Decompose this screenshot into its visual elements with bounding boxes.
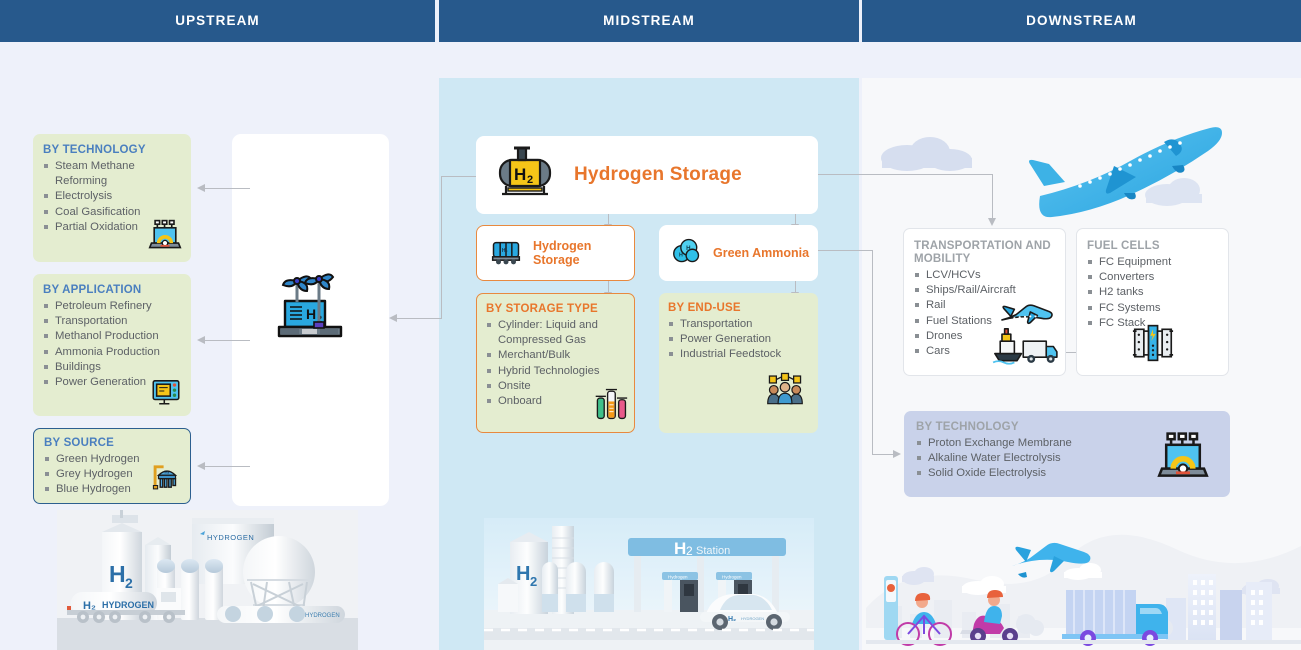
list-item: Ammonia Production [43, 345, 181, 360]
column-header-downstream: DOWNSTREAM [862, 0, 1301, 42]
connector-line [872, 250, 873, 454]
list-item: Transportation [668, 317, 809, 332]
connector-line [205, 188, 250, 189]
svg-text:H: H [514, 165, 526, 184]
infographic-root: HYDROGEN ECONOMY HYDROGEN [0, 0, 1301, 650]
svg-text:H: H [686, 245, 691, 252]
card-list: FC Equipment Converters H2 tanks FC Syst… [1087, 255, 1218, 331]
svg-text:Station: Station [696, 545, 730, 557]
connector-line [441, 176, 442, 319]
list-item: Transportation [43, 314, 181, 329]
card-fuel-cells: FUEL CELLS FC Equipment Converters H2 ta… [1076, 228, 1229, 376]
card-heading: BY END-USE [668, 302, 809, 315]
list-item: Merchant/Bulk [486, 348, 625, 363]
midstream-sub-hydrogen-storage: H₂ Hydrogen Storage [476, 225, 635, 281]
list-item: Electrolysis [43, 189, 181, 204]
svg-text:H₂: H₂ [728, 616, 736, 623]
list-item: Buildings [43, 360, 181, 375]
arrow-left-icon [389, 314, 397, 322]
svg-text:Hydrogen: Hydrogen [722, 575, 742, 580]
svg-text:HYDROGEN: HYDROGEN [102, 600, 154, 610]
card-by-end-use: BY END-USE Transportation Power Generati… [659, 293, 818, 433]
list-item: Hybrid Technologies [486, 364, 625, 379]
svg-text:HYDROGEN: HYDROGEN [305, 613, 340, 619]
connector-line [872, 454, 894, 455]
connector-line [397, 318, 442, 319]
upstream-center-plate: H 2 [232, 134, 389, 506]
list-item: Power Generation [668, 332, 809, 347]
list-item: Methanol Production [43, 329, 181, 344]
svg-text:Hydrogen: Hydrogen [668, 575, 688, 580]
card-by-application-upstream: BY APPLICATION Petroleum Refinery Transp… [33, 274, 191, 416]
city-mobility-illustration [866, 528, 1301, 650]
card-by-technology-downstream: BY TECHNOLOGY Proton Exchange Membrane A… [904, 411, 1230, 497]
arrow-left-icon [197, 184, 205, 192]
plane-ship-truck-icon [989, 304, 1061, 371]
svg-text:H₂: H₂ [502, 247, 508, 253]
card-by-storage-type: BY STORAGE TYPE Cylinder: Liquid and Com… [476, 293, 635, 433]
card-heading: FUEL CELLS [1087, 240, 1218, 253]
svg-text:H: H [306, 306, 316, 322]
card-transportation-and-mobility: TRANSPORTATION AND MOBILITY LCV/HCVs Shi… [903, 228, 1066, 376]
svg-text:H: H [679, 252, 683, 258]
list-item: Steam Methane Reforming [43, 159, 181, 189]
midstream-main-label: Hydrogen Storage [574, 164, 742, 186]
h2-refuelling-station-illustration: H 2 H 2 Station Hydro [484, 518, 814, 650]
list-item: Industrial Feedstock [668, 347, 809, 362]
svg-text:2: 2 [527, 174, 533, 186]
column-header-upstream: UPSTREAM [0, 0, 435, 42]
midstream-main-card: H 2 Hydrogen Storage [476, 136, 818, 214]
people-group-icon [766, 372, 804, 411]
svg-text:H: H [516, 563, 530, 585]
midstream-sub-label: Green Ammonia [713, 246, 809, 260]
svg-text:2: 2 [530, 574, 537, 589]
connector-line [205, 466, 250, 467]
svg-text:H: H [109, 561, 126, 587]
arrow-right-icon [893, 450, 901, 458]
midstream-sub-label: Hydrogen Storage [533, 239, 634, 267]
svg-text:2: 2 [125, 575, 133, 591]
laptop-gear-icon [147, 217, 183, 258]
airplane-takeoff-illustration [862, 120, 1301, 230]
list-item: Ships/Rail/Aircraft [914, 283, 1055, 298]
list-item: FC Equipment [1087, 255, 1218, 270]
connector-line [441, 176, 481, 177]
list-item: H2 tanks [1087, 285, 1218, 300]
card-by-technology-upstream: BY TECHNOLOGY Steam Methane Reforming El… [33, 134, 191, 262]
connector-line [205, 340, 250, 341]
h2-storage-tank-icon: H 2 [494, 144, 556, 207]
arrow-left-icon [197, 336, 205, 344]
card-list: Transportation Power Generation Industri… [668, 317, 809, 363]
list-item: Cylinder: Liquid and Compressed Gas [486, 318, 625, 348]
hydrogen-plant-illustration: HYDROGEN H 2 [57, 510, 358, 650]
connector-line [992, 174, 993, 222]
list-item: Converters [1087, 270, 1218, 285]
control-panel-icon [149, 374, 183, 413]
connector-line [818, 174, 993, 175]
arrow-down-icon [988, 218, 996, 226]
fuel-cell-stack-icon [1131, 322, 1175, 369]
wind-turbine-h2-plant-icon: H 2 [273, 269, 349, 344]
svg-text:H: H [674, 539, 686, 558]
midstream-sub-green-ammonia: H H Green Ammonia [659, 225, 818, 281]
arrow-left-icon [197, 462, 205, 470]
card-heading: BY APPLICATION [43, 284, 181, 297]
svg-text:2: 2 [686, 544, 693, 558]
molecule-icon: H H [671, 236, 703, 271]
card-heading: BY SOURCE [44, 437, 180, 450]
card-heading: BY STORAGE TYPE [486, 303, 625, 316]
connector-line [818, 250, 873, 251]
svg-text:HYDROGEN: HYDROGEN [741, 616, 764, 621]
list-item: LCV/HCVs [914, 268, 1055, 283]
card-by-source-upstream: BY SOURCE Green Hydrogen Grey Hydrogen B… [33, 428, 191, 504]
card-heading: BY TECHNOLOGY [43, 144, 181, 157]
svg-text:H₂: H₂ [164, 470, 169, 475]
list-item: FC Systems [1087, 301, 1218, 316]
test-tubes-icon [594, 386, 628, 427]
column-header-midstream: MIDSTREAM [439, 0, 859, 42]
h2-tanker-icon: H₂ [489, 236, 523, 271]
laptop-gear-icon [1154, 428, 1212, 489]
gas-holder-icon: H₂ [150, 460, 184, 499]
card-heading: TRANSPORTATION AND MOBILITY [914, 240, 1055, 266]
list-item: Petroleum Refinery [43, 299, 181, 314]
svg-text:HYDROGEN: HYDROGEN [207, 533, 254, 542]
